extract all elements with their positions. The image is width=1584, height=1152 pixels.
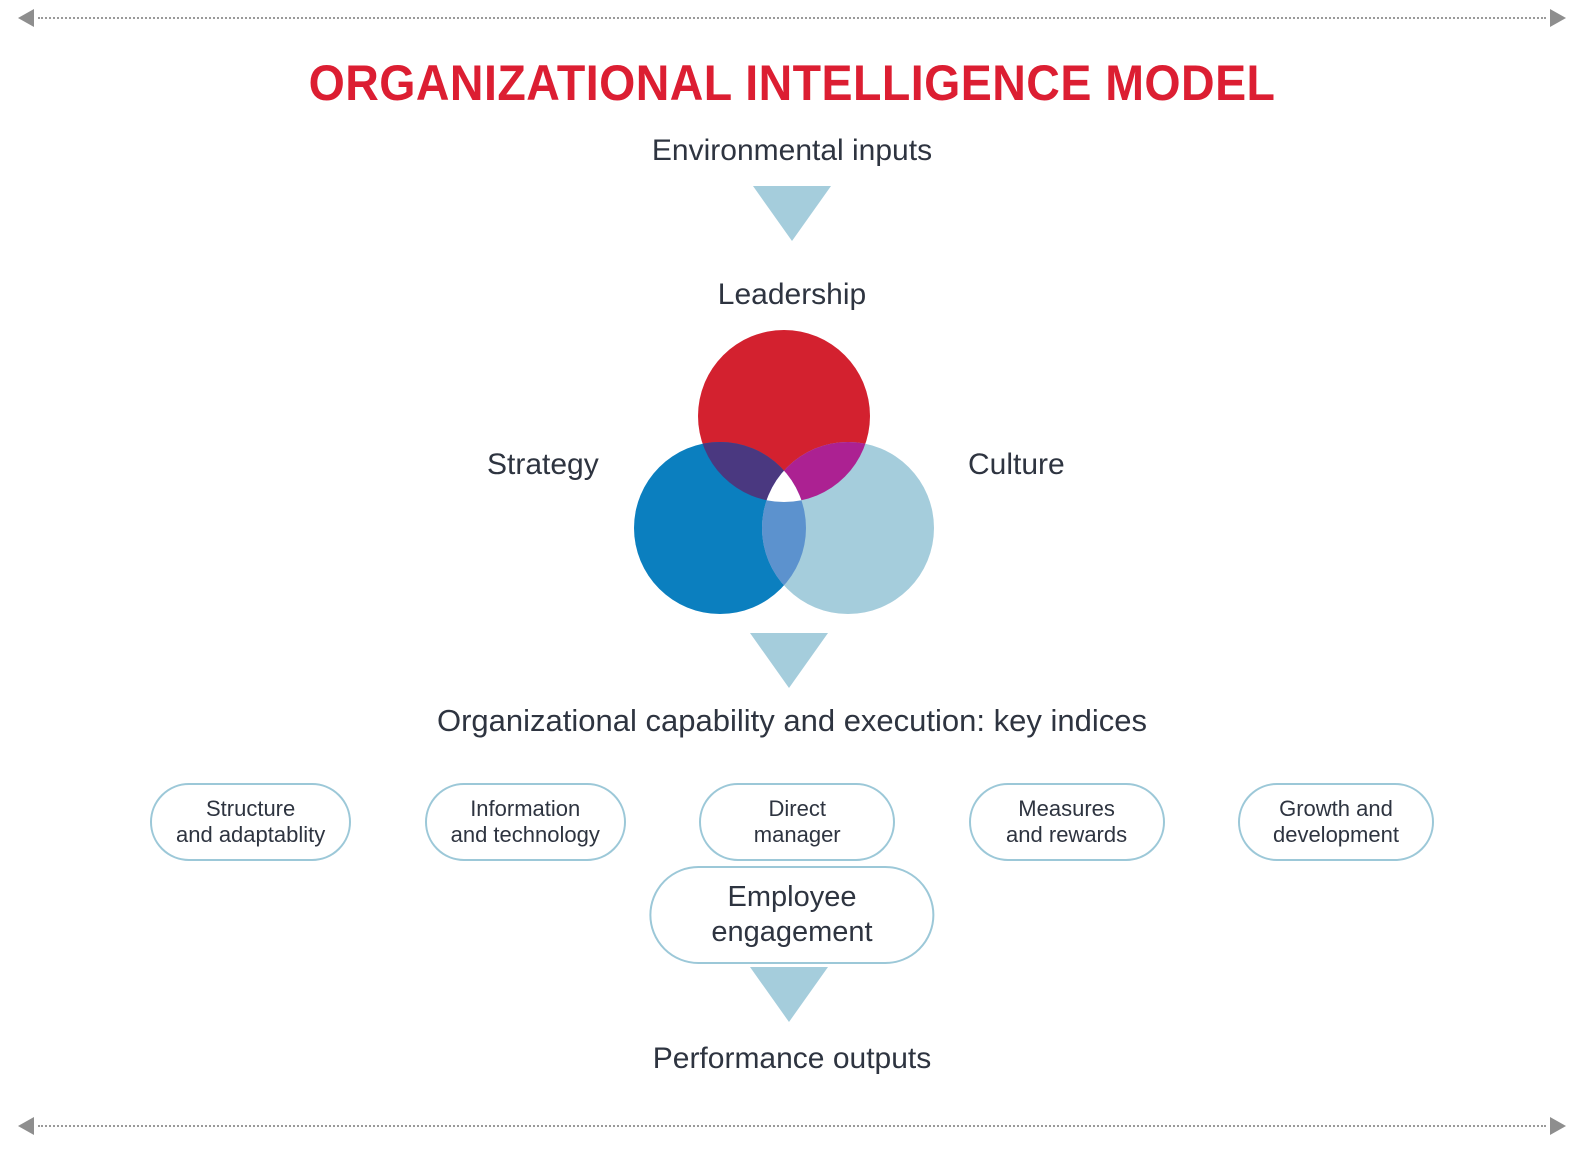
down-arrow-icon-top bbox=[753, 186, 831, 241]
index-pill-growth[interactable]: Growth and development bbox=[1238, 783, 1434, 861]
dotted-line bbox=[38, 17, 1546, 19]
frame-rule-top bbox=[18, 8, 1566, 28]
venn-label-strategy: Strategy bbox=[487, 448, 599, 482]
index-pill-structure[interactable]: Structure and adaptablity bbox=[150, 783, 351, 861]
dotted-line bbox=[38, 1125, 1546, 1127]
index-pill-measures[interactable]: Measures and rewards bbox=[969, 783, 1165, 861]
arrow-left-icon bbox=[18, 9, 34, 27]
index-pill-direct-manager[interactable]: Direct manager bbox=[699, 783, 895, 861]
venn-svg bbox=[634, 330, 934, 615]
arrow-right-icon bbox=[1550, 1117, 1566, 1135]
page-title: ORGANIZATIONAL INTELLIGENCE MODEL bbox=[55, 54, 1528, 112]
key-indices-row: Structure and adaptablity Information an… bbox=[150, 783, 1434, 861]
down-arrow-icon-bottom bbox=[750, 967, 828, 1022]
venn-diagram bbox=[634, 330, 934, 615]
frame-rule-bottom bbox=[18, 1116, 1566, 1136]
down-arrow-icon-middle bbox=[750, 633, 828, 688]
arrow-right-icon bbox=[1550, 9, 1566, 27]
environmental-inputs-label: Environmental inputs bbox=[0, 134, 1584, 168]
performance-outputs-label: Performance outputs bbox=[0, 1042, 1584, 1076]
venn-label-culture: Culture bbox=[968, 448, 1065, 482]
index-pill-employee-engagement[interactable]: Employee engagement bbox=[649, 866, 934, 964]
key-indices-label: Organizational capability and execution:… bbox=[0, 703, 1584, 739]
index-pill-information[interactable]: Information and technology bbox=[425, 783, 626, 861]
arrow-left-icon bbox=[18, 1117, 34, 1135]
venn-label-leadership: Leadership bbox=[0, 278, 1584, 312]
